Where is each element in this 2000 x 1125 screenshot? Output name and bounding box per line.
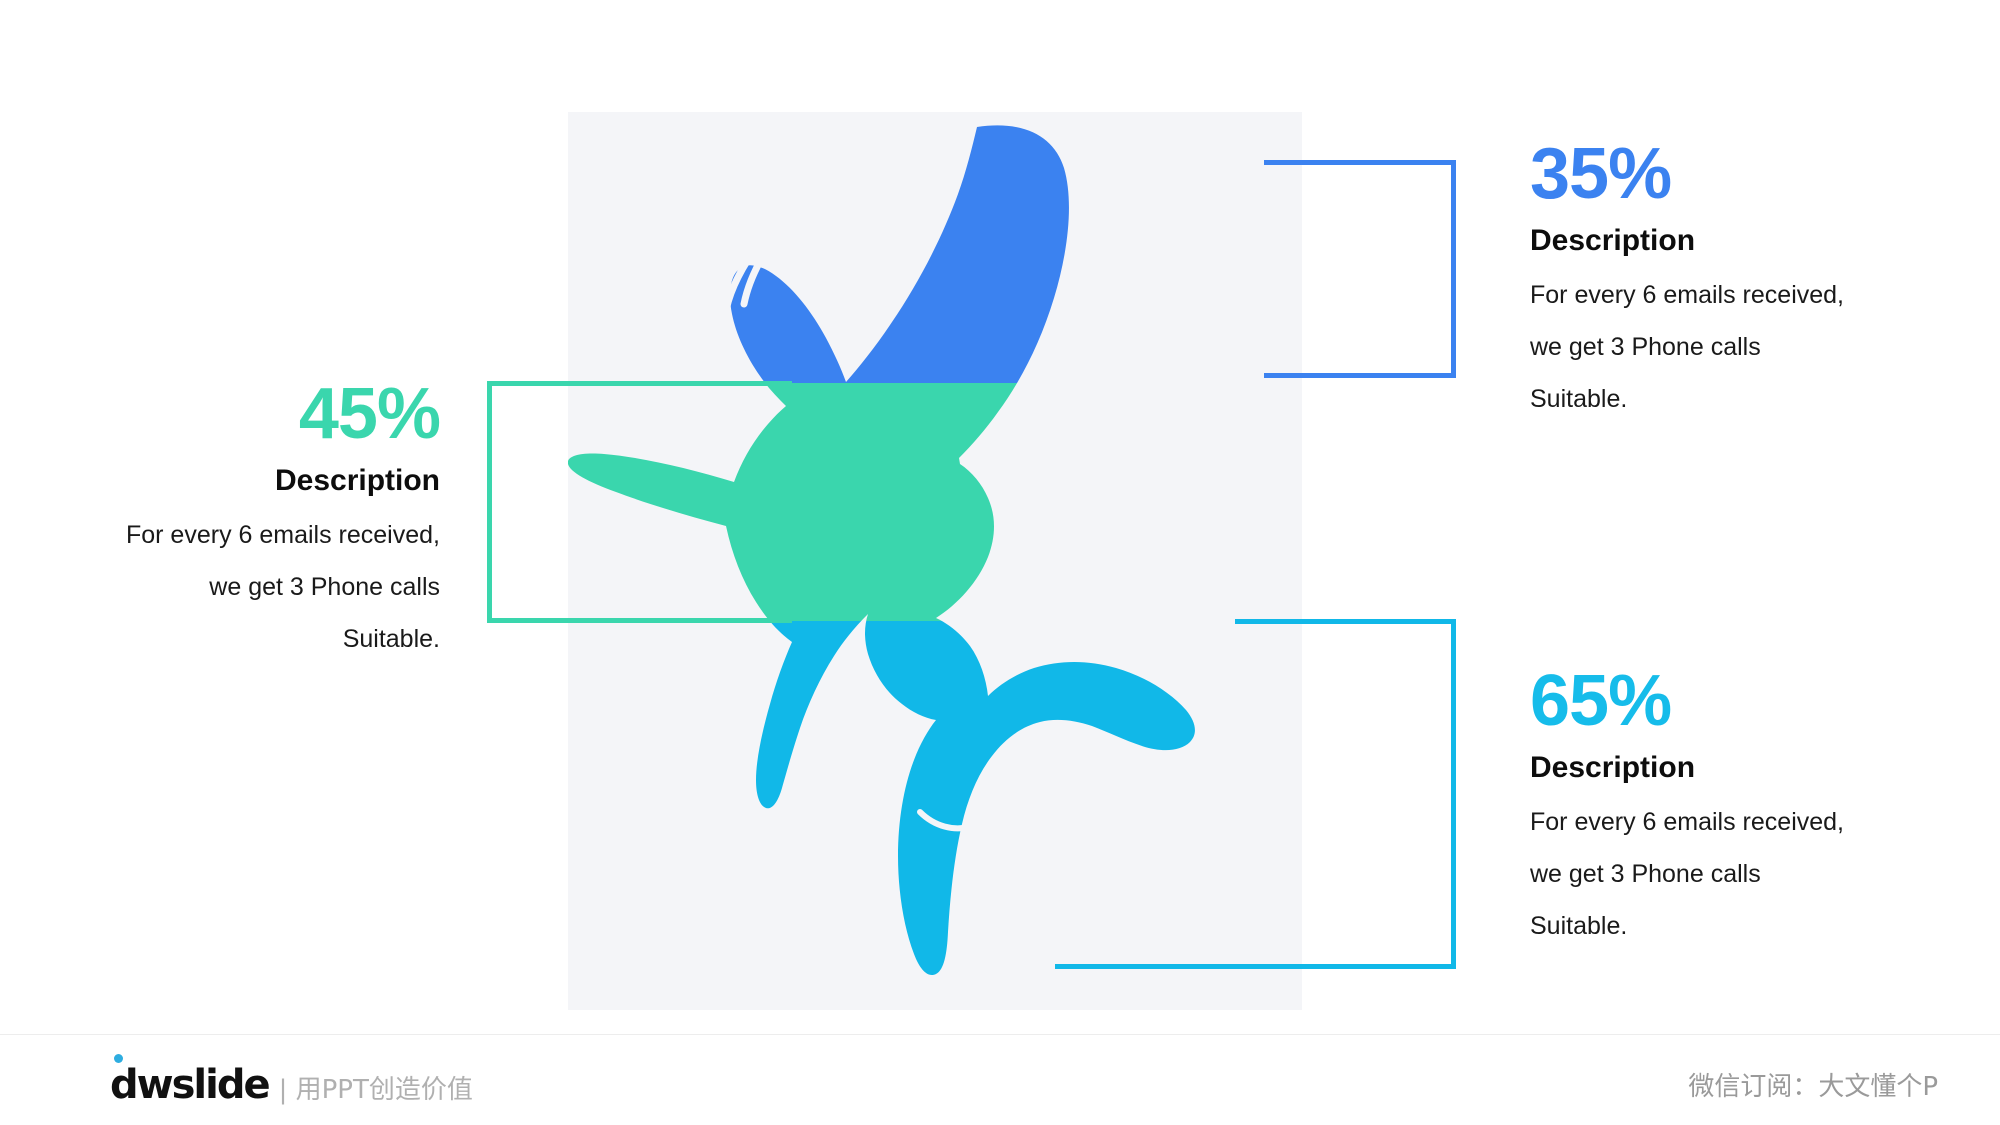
callout-45: 45% Description For every 6 emails recei… [20, 378, 440, 665]
connector-bracket-65 [1055, 619, 1456, 969]
callout-35-line-1: For every 6 emails received, [1530, 269, 1950, 321]
connector-bracket-35 [1264, 160, 1456, 378]
logo-wordmark: dwslide [110, 1062, 269, 1108]
callout-65-heading: Description [1530, 751, 1950, 784]
bracket-segment-bottom [487, 618, 792, 623]
callout-65-line-3: Suitable. [1530, 900, 1950, 952]
bracket-segment-right [1451, 160, 1456, 378]
footer-branding: dwslide | 用PPT创造价值 [110, 1062, 473, 1108]
bracket-segment-left [487, 381, 492, 623]
callout-65-line-2: we get 3 Phone calls [1530, 848, 1950, 900]
dwslide-logo: dwslide [110, 1062, 269, 1108]
shark-band-blue [568, 112, 1302, 383]
callout-35-percent: 35% [1530, 138, 1950, 210]
footer-tagline: | 用PPT创造价值 [279, 1069, 473, 1106]
callout-65-percent: 65% [1530, 665, 1950, 737]
bracket-segment-top [1235, 619, 1456, 624]
callout-45-line-2: we get 3 Phone calls [20, 561, 440, 613]
bracket-segment-top [1264, 160, 1456, 165]
bracket-segment-bottom [1264, 373, 1456, 378]
callout-35-line-2: we get 3 Phone calls [1530, 321, 1950, 373]
callout-35-line-3: Suitable. [1530, 373, 1950, 425]
footer-wechat: 微信订阅：大文懂个P [1688, 1066, 1938, 1103]
footer-divider [0, 1034, 2000, 1035]
callout-45-line-3: Suitable. [20, 613, 440, 665]
callout-45-line-1: For every 6 emails received, [20, 509, 440, 561]
callout-45-heading: Description [20, 464, 440, 497]
logo-dot-icon [114, 1054, 123, 1063]
bracket-segment-top [487, 381, 792, 386]
callout-65-line-1: For every 6 emails received, [1530, 796, 1950, 848]
callout-65: 65% Description For every 6 emails recei… [1530, 665, 1950, 952]
bracket-segment-right [1451, 619, 1456, 969]
slide-canvas: 35% Description For every 6 emails recei… [0, 0, 2000, 1125]
bracket-segment-bottom [1055, 964, 1456, 969]
callout-45-percent: 45% [20, 378, 440, 450]
callout-35: 35% Description For every 6 emails recei… [1530, 138, 1950, 425]
callout-35-heading: Description [1530, 224, 1950, 257]
connector-bracket-45 [487, 381, 792, 623]
